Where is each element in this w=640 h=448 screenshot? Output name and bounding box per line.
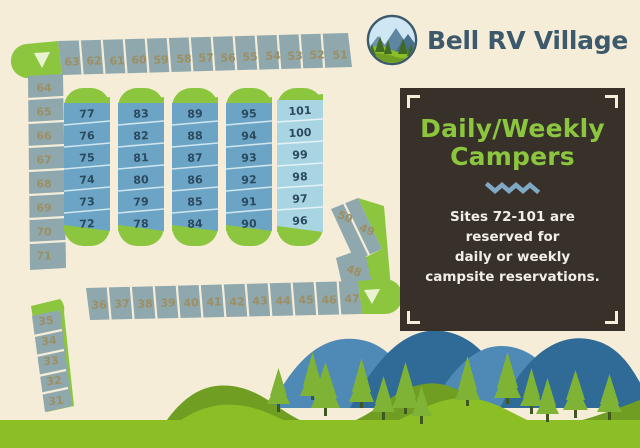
site-column-72-77[interactable] xyxy=(64,88,110,246)
info-panel-body: Sites 72-101 are reserved for daily or w… xyxy=(414,208,611,287)
wave-divider-icon xyxy=(485,180,541,194)
info-panel-title-line1: Daily/Weekly xyxy=(414,115,611,143)
road-cap-right xyxy=(358,279,403,314)
site-column-90-95[interactable] xyxy=(226,88,272,246)
brand-logo[interactable]: Bell RV Village xyxy=(366,14,628,66)
info-panel-body-line1: Sites 72-101 are xyxy=(414,208,611,228)
left-site-column[interactable] xyxy=(28,74,66,270)
info-panel: Daily/Weekly Campers Sites 72-101 are re… xyxy=(400,88,625,331)
corner-bracket-bottom-right xyxy=(605,311,618,324)
info-panel-title: Daily/Weekly Campers xyxy=(414,115,611,171)
site-column-84-89[interactable] xyxy=(172,88,218,246)
site-column-78-83[interactable] xyxy=(118,88,164,246)
info-panel-body-line3: daily or weekly xyxy=(414,248,611,268)
info-panel-body-line4: campsite reservations. xyxy=(414,268,611,288)
corner-bracket-bottom-left xyxy=(407,311,420,324)
corner-bracket-top-left xyxy=(407,95,420,108)
info-panel-body-line2: reserved for xyxy=(414,228,611,248)
info-panel-title-line2: Campers xyxy=(414,143,611,171)
site-column-96-101[interactable] xyxy=(277,88,323,246)
mountain-trees-badge-icon xyxy=(366,14,418,66)
corner-bracket-top-right xyxy=(605,95,618,108)
brand-name: Bell RV Village xyxy=(427,26,628,55)
